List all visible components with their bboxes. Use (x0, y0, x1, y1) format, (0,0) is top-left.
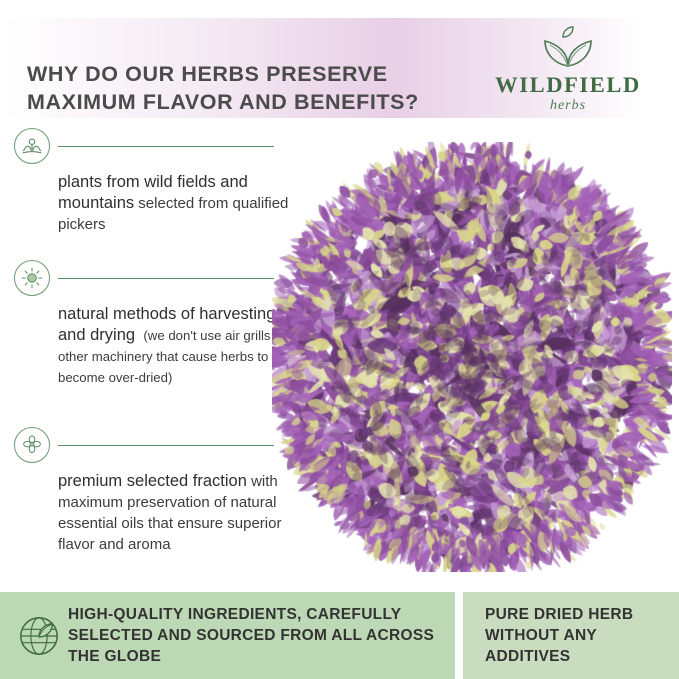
banner-pure: PURE DRIED HERB WITHOUT ANY ADDITIVES (463, 592, 679, 679)
banner-quality: HIGH-QUALITY INGREDIENTS, CAREFULLY SELE… (0, 592, 455, 679)
sun-icon (14, 260, 50, 296)
sprout-field-icon (14, 128, 50, 164)
brand-logo: WILDFIELD herbs (470, 26, 666, 118)
dried-petals-image (272, 142, 672, 572)
feature-item-fraction: premium selected fraction with maximum p… (14, 427, 289, 577)
banner-quality-text: HIGH-QUALITY INGREDIENTS, CAREFULLY SELE… (68, 604, 455, 667)
flower-icon (14, 427, 50, 463)
two-leaves-icon (539, 26, 597, 68)
feature-lead-fraction: premium selected fraction (58, 472, 247, 490)
infographic-page: WHY DO OUR HERBS PRESERVE MAXIMUM FLAVOR… (0, 0, 679, 679)
page-title: WHY DO OUR HERBS PRESERVE MAXIMUM FLAVOR… (27, 60, 457, 116)
feature-divider (58, 445, 274, 446)
globe-leaf-icon (10, 614, 68, 658)
logo-tagline: herbs (470, 98, 666, 114)
feature-text-plants: plants from wild fields and mountains se… (14, 128, 289, 235)
banner-pure-text: PURE DRIED HERB WITHOUT ANY ADDITIVES (463, 604, 679, 667)
product-photo (272, 142, 672, 572)
feature-divider (58, 278, 274, 279)
feature-list: plants from wild fields and mountains se… (14, 128, 289, 581)
feature-divider (58, 146, 274, 147)
feature-item-drying: natural methods of harvesting and drying… (14, 260, 289, 423)
feature-item-plants: plants from wild fields and mountains se… (14, 128, 289, 256)
logo-wordmark: WILDFIELD (470, 72, 666, 98)
